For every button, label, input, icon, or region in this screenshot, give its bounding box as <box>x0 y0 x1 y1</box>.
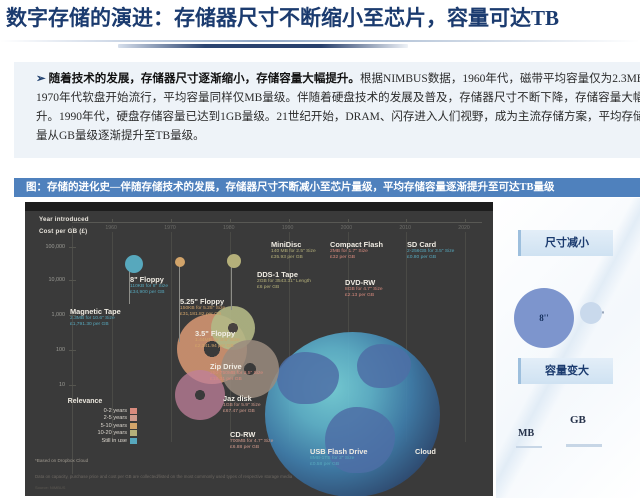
point-cost: £2.13 per GB <box>345 293 383 299</box>
x-tick-mark <box>406 219 407 223</box>
chart-point-label: Cloud <box>415 447 436 456</box>
legend-swatch <box>130 430 137 436</box>
y-tick-label: 1,000 <box>25 312 65 318</box>
right-illustration-panel: 尺寸减小 8'' 3.5'' 容量变大 MB GB <box>496 198 640 498</box>
legend-label: 10-20 years <box>97 430 127 436</box>
chart-point-label: Magnetic Tape2.3MB for 10.6" Size£1,791.… <box>70 307 121 329</box>
summary-panel: ➢随着技术的发展，存储器尺寸逐渐缩小，存储容量大幅提升。根据NIMBUS数据，1… <box>14 62 640 158</box>
y-tick-mark <box>69 280 76 281</box>
point-name: Zip Drive <box>210 362 263 371</box>
chart-point-label: Compact Flash2MB for 1.7" Size£32 per GB <box>330 240 383 262</box>
legend-label: Still in use <box>102 438 128 444</box>
chart-point-label: 3.5" Floppy1.44MB for 3.5" Size£2,341.94… <box>195 329 240 351</box>
y-tick-label: 100,000 <box>25 244 65 250</box>
x-tick-label: 2020 <box>458 225 470 231</box>
legend-swatch <box>130 423 137 429</box>
chart-point-label: Zip Drive250-750MB for 3.5" Size£18.31 p… <box>210 362 263 384</box>
point-name: Magnetic Tape <box>70 307 121 316</box>
point-cost: £35.93 per GB <box>271 255 316 261</box>
summary-lead: 随着技术的发展，存储器尺寸逐渐缩小，存储容量大幅提升。 <box>49 73 360 85</box>
capacity-bar-small <box>516 446 542 448</box>
point-cost: £1,791.30 per GB <box>70 322 121 328</box>
x-grid-line <box>465 232 466 442</box>
source-note: Source: NIMBUS <box>35 485 65 490</box>
point-name: USB Flash Drive <box>310 447 368 456</box>
x-tick-mark <box>465 219 466 223</box>
figure-caption: 图：存储的进化史—伴随存储技术的发展，存储器尺寸不断减小至芯片量级，平均存储容量… <box>14 178 640 197</box>
legend-item: 10-20 years <box>33 430 137 436</box>
chart-point-dot <box>227 254 241 268</box>
chart-point-label: SD Card2-256GB for 3.5" Size£0.80 per GB <box>407 240 454 262</box>
legend-swatch <box>130 408 137 414</box>
x-tick-mark <box>348 219 349 223</box>
x-tick-label: 2000 <box>341 225 353 231</box>
point-name: Jaz disk <box>223 394 261 403</box>
point-cost: £0.58 per GB <box>310 462 368 468</box>
legend-label: 5-10 years <box>101 423 127 429</box>
point-cost: £2,341.94 per GB <box>195 344 240 350</box>
point-cost: £6 per GB <box>257 285 311 291</box>
legend-swatch <box>130 438 137 444</box>
point-name: 8" Floppy <box>130 275 168 284</box>
chart-point-label: MiniDisc140 MB for 2.5" Size£35.93 per G… <box>271 240 316 262</box>
point-cost: £34,900 per GB <box>130 290 168 296</box>
x-tick-mark <box>112 219 113 223</box>
point-name: Cloud <box>415 447 436 456</box>
y-tick-mark <box>69 385 76 386</box>
x-tick-mark <box>230 219 231 223</box>
x-tick-label: 1960 <box>105 225 117 231</box>
x-tick-label: 1990 <box>282 225 294 231</box>
summary-paragraph: ➢随着技术的发展，存储器尺寸逐渐缩小，存储容量大幅提升。根据NIMBUS数据，1… <box>36 70 640 146</box>
point-name: MiniDisc <box>271 240 316 249</box>
size-circle-small <box>580 302 602 324</box>
point-cost: £18.31 per GB <box>210 377 263 383</box>
x-grid-line <box>171 232 172 442</box>
legend-title: Relevance <box>33 398 137 405</box>
point-cost: £67.47 per GB <box>223 409 261 415</box>
chart-point-label: 5.25" Floppy150KB for 5.25" Size£31,181.… <box>180 297 225 319</box>
capacity-bar-large <box>566 444 602 447</box>
point-cost: £31,181.82 per GB <box>180 312 225 318</box>
chart-point-label: Jaz disk1GB for 5.9" Size£67.47 per GB <box>223 394 261 416</box>
page-title: 数字存储的演进：存储器尺寸不断缩小至芯片，容量可达TB <box>6 2 640 32</box>
size-circle-large: 8'' <box>514 288 574 348</box>
point-cost: £6.88 per GB <box>230 445 273 451</box>
storage-evolution-infographic: Year introduced Cost per GB (£) 19601970… <box>25 202 493 496</box>
point-cost: £0.80 per GB <box>407 255 454 261</box>
legend-item: 5-10 years <box>33 423 137 429</box>
x-tick-label: 1970 <box>164 225 176 231</box>
capacity-growth-label: 容量变大 <box>518 358 613 384</box>
point-name: CD-RW <box>230 430 273 439</box>
point-name: 3.5" Floppy <box>195 329 240 338</box>
legend-item: 2-5 years <box>33 415 137 421</box>
data-note: Data on capacity, purchase price and cos… <box>35 474 475 479</box>
footnote: *Based on Dropbox Cloud <box>35 458 88 463</box>
size-reduction-label: 尺寸减小 <box>518 230 613 256</box>
point-name: 5.25" Floppy <box>180 297 225 306</box>
y-tick-label: 10 <box>25 382 65 388</box>
title-divider <box>0 40 640 42</box>
chart-point-dot <box>175 257 185 267</box>
chart-point-label: DDS-1 Tape2GB for 3543.31" Length£6 per … <box>257 270 311 292</box>
axis-label-y: Cost per GB (£) <box>39 228 87 235</box>
point-name: DDS-1 Tape <box>257 270 311 279</box>
chart-point-label: 8" Floppy110KB for 8" Size£34,900 per GB <box>130 275 168 297</box>
capacity-mb-label: MB <box>518 428 534 439</box>
y-tick-label: 10,000 <box>25 277 65 283</box>
y-tick-mark <box>69 350 76 351</box>
chart-point-dot <box>125 255 143 273</box>
y-tick-mark <box>69 247 76 248</box>
legend-label: 0-2 years <box>104 408 127 414</box>
x-tick-mark <box>171 219 172 223</box>
chart-point-label: CD-RW700MB for 4.7" Size£6.88 per GB <box>230 430 273 452</box>
chart-point-label: USB Flash Drive8MB-1TB for 2" Size£0.58 … <box>310 447 368 469</box>
capacity-gb-label: GB <box>570 414 586 426</box>
x-tick-label: 1980 <box>223 225 235 231</box>
relevance-legend: Relevance 0-2 years2-5 years5-10 years10… <box>33 398 137 445</box>
legend-item: Still in use <box>33 438 137 444</box>
legend-item: 0-2 years <box>33 408 137 414</box>
point-name: SD Card <box>407 240 454 249</box>
point-name: Compact Flash <box>330 240 383 249</box>
x-axis-line <box>72 222 482 223</box>
point-name: DVD-RW <box>345 278 383 287</box>
chart-point-label: DVD-RW8GB for 4.7" Size£2.13 per GB <box>345 278 383 300</box>
x-tick-label: 2010 <box>399 225 411 231</box>
legend-label: 2-5 years <box>104 415 127 421</box>
point-cost: £32 per GB <box>330 255 383 261</box>
y-tick-label: 100 <box>25 347 65 353</box>
x-tick-mark <box>289 219 290 223</box>
bullet-icon: ➢ <box>36 73 46 85</box>
legend-swatch <box>130 415 137 421</box>
title-accent-bar <box>118 44 408 48</box>
